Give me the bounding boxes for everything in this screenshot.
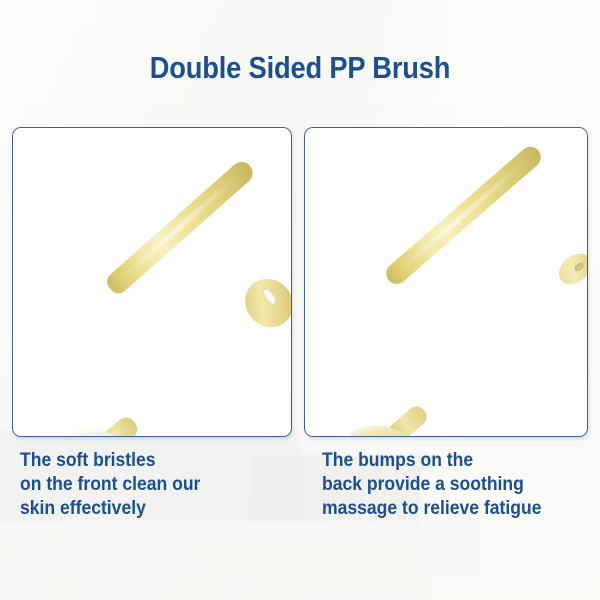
handle-highlight [394,157,530,276]
caption-front: The soft bristles on the front clean our… [20,448,200,520]
handle-loop-end [235,269,292,337]
product-photo-panel-back [304,127,588,437]
brush-front-photo [13,128,291,436]
page-title: Double Sided PP Brush [36,50,564,86]
caption-back: The bumps on the back provide a soothing… [322,448,541,520]
background-texture-block [60,520,480,575]
product-infographic: Double Sided PP Brush [0,0,600,600]
background-texture-block [190,545,430,600]
handle-tip-end [553,247,588,290]
product-photo-panel-front [12,127,292,437]
brush-back-photo [305,128,587,436]
handle-highlight [116,169,245,284]
